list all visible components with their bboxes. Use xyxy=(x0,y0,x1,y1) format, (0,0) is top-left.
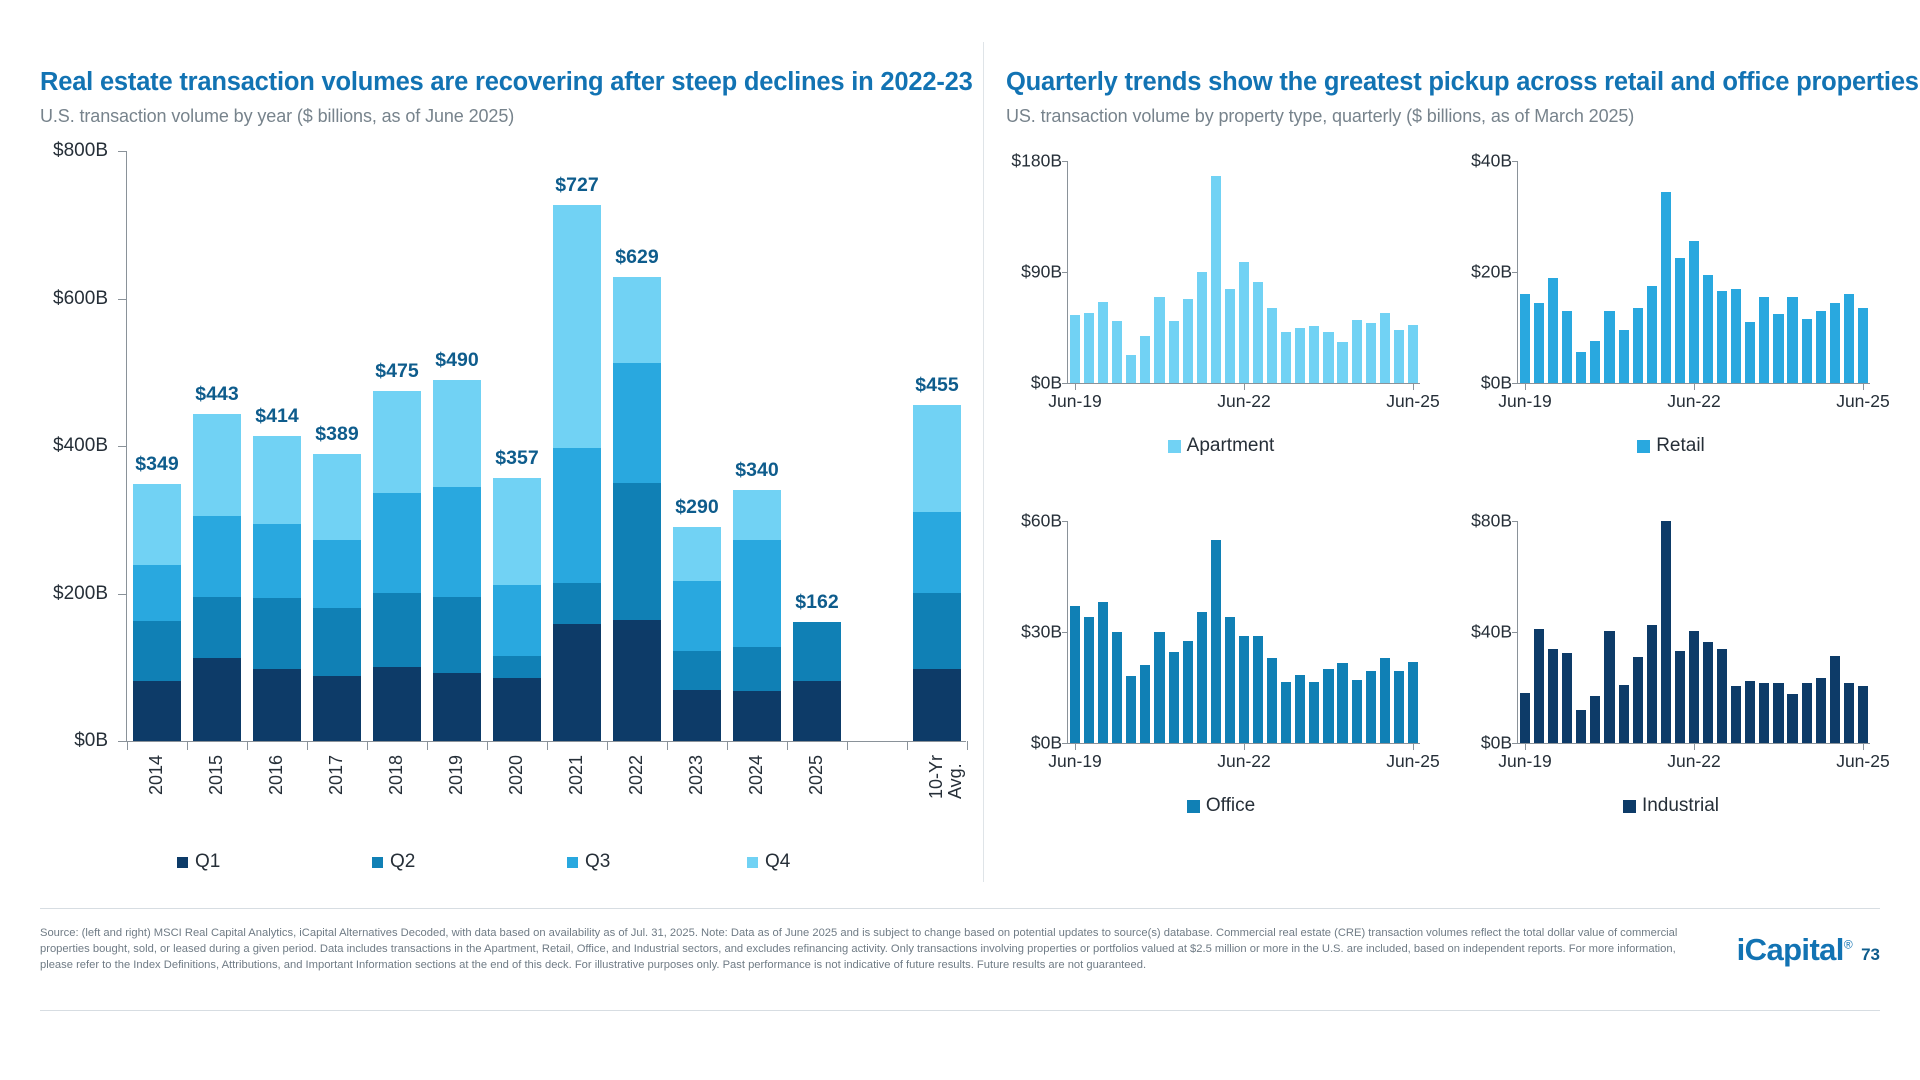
mini-bar[interactable] xyxy=(1661,192,1671,383)
mini-bar[interactable] xyxy=(1169,321,1179,383)
mini-bar[interactable] xyxy=(1619,685,1629,743)
mini-bar[interactable] xyxy=(1745,322,1755,383)
mini-bar[interactable] xyxy=(1098,302,1108,383)
mini-bar[interactable] xyxy=(1689,631,1699,743)
x-axis-category-label: 2024 xyxy=(747,755,766,795)
mini-x-tick-label: Jun-25 xyxy=(1386,391,1440,412)
mini-bar[interactable] xyxy=(1717,291,1727,383)
mini-x-tick-mark xyxy=(1525,384,1526,390)
x-tick-mark xyxy=(487,741,488,750)
bar-total-label: $475 xyxy=(375,360,418,383)
mini-x-tick-mark xyxy=(1863,384,1864,390)
mini-bar[interactable] xyxy=(1084,617,1094,743)
bar-segment-q1 xyxy=(133,681,181,741)
x-tick-mark xyxy=(727,741,728,750)
mini-x-tick-mark xyxy=(1413,744,1414,750)
x-axis-category-label: 2018 xyxy=(387,755,406,795)
mini-bar[interactable] xyxy=(1619,330,1629,383)
mini-y-axis-labels: $0B$30B$60B xyxy=(1006,521,1062,743)
mini-bar[interactable] xyxy=(1844,683,1854,743)
mini-bar[interactable] xyxy=(1534,629,1544,743)
bar-segment-q1 xyxy=(253,669,301,741)
mini-x-tick-label: Jun-22 xyxy=(1667,391,1721,412)
stacked-bar[interactable] xyxy=(673,527,721,741)
x-tick-mark xyxy=(907,741,908,750)
bar-segment-q2 xyxy=(913,593,961,669)
bar-segment-q1 xyxy=(433,673,481,741)
mini-bar[interactable] xyxy=(1253,282,1263,383)
mini-x-tick-label: Jun-22 xyxy=(1667,751,1721,772)
panel-divider xyxy=(983,42,984,882)
x-axis-ticks xyxy=(127,741,967,751)
mini-bar[interactable] xyxy=(1590,341,1600,383)
mini-bar[interactable] xyxy=(1858,686,1868,743)
x-tick-mark xyxy=(187,741,188,750)
bar-segment-q4 xyxy=(733,490,781,539)
mini-legend-label: Office xyxy=(1206,795,1255,817)
bar-segment-q4 xyxy=(373,391,421,494)
right-panel: Quarterly trends show the greatest picku… xyxy=(1006,68,1886,843)
page-number: 73 xyxy=(1861,945,1880,965)
mini-x-tick-label: Jun-19 xyxy=(1048,391,1102,412)
y-tick-mark xyxy=(118,151,126,152)
stacked-bar[interactable] xyxy=(793,622,841,741)
y-tick-mark xyxy=(118,741,126,742)
mini-bar[interactable] xyxy=(1520,693,1530,743)
footnote-text: Source: (left and right) MSCI Real Capit… xyxy=(40,926,1700,974)
bar-segment-q2 xyxy=(433,597,481,673)
legend-swatch-icon xyxy=(567,857,578,868)
mini-x-tick-mark xyxy=(1244,744,1245,750)
bar-total-label: $357 xyxy=(495,447,538,470)
mini-bar[interactable] xyxy=(1802,683,1812,743)
mini-bar[interactable] xyxy=(1197,612,1207,743)
mini-bar[interactable] xyxy=(1844,294,1854,383)
mini-bar[interactable] xyxy=(1661,521,1671,743)
mini-bar[interactable] xyxy=(1548,278,1558,383)
mini-legend-swatch-icon xyxy=(1637,440,1650,453)
x-tick-mark xyxy=(967,741,968,750)
x-tick-mark xyxy=(427,741,428,750)
bar-segment-q1 xyxy=(913,669,961,741)
mini-bar[interactable] xyxy=(1604,631,1614,743)
mini-legend-swatch-icon xyxy=(1623,800,1636,813)
bar-total-label: $414 xyxy=(255,405,298,428)
mini-bar[interactable] xyxy=(1520,294,1530,383)
mini-bar[interactable] xyxy=(1323,332,1333,383)
mini-y-tick-label: $180B xyxy=(1011,151,1062,172)
mini-bar[interactable] xyxy=(1154,297,1164,383)
mini-bar[interactable] xyxy=(1703,275,1713,383)
mini-bar[interactable] xyxy=(1183,641,1193,743)
bar-segment-q3 xyxy=(253,524,301,598)
mini-bar[interactable] xyxy=(1295,328,1305,384)
legend-label: Q4 xyxy=(765,851,790,873)
mini-x-tick-label: Jun-19 xyxy=(1498,751,1552,772)
bar-segment-q3 xyxy=(373,493,421,593)
mini-bar[interactable] xyxy=(1562,311,1572,383)
bar-segment-q3 xyxy=(673,581,721,651)
x-axis-category-label: 2022 xyxy=(627,755,646,795)
mini-bar[interactable] xyxy=(1309,682,1319,743)
mini-bar[interactable] xyxy=(1352,320,1362,383)
bar-total-label: $349 xyxy=(135,453,178,476)
bar-segment-q2 xyxy=(613,483,661,620)
mini-bar[interactable] xyxy=(1816,678,1826,743)
x-tick-mark xyxy=(367,741,368,750)
mini-bar[interactable] xyxy=(1830,303,1840,383)
legend-swatch-icon xyxy=(177,857,188,868)
bar-segment-q2 xyxy=(253,598,301,669)
mini-y-tick-label: $40B xyxy=(1471,151,1512,172)
mini-legend-swatch-icon xyxy=(1187,800,1200,813)
legend-item-q1[interactable]: Q1 xyxy=(177,851,220,873)
x-tick-mark xyxy=(307,741,308,750)
mini-bar[interactable] xyxy=(1647,286,1657,383)
bar-segment-q4 xyxy=(913,405,961,511)
legend-item-q2[interactable]: Q2 xyxy=(372,851,415,873)
mini-bar[interactable] xyxy=(1084,313,1094,383)
mini-bar[interactable] xyxy=(1394,330,1404,383)
stacked-bar[interactable] xyxy=(193,414,241,741)
mini-bar[interactable] xyxy=(1126,676,1136,743)
bar-segment-q4 xyxy=(313,454,361,540)
mini-bar[interactable] xyxy=(1576,352,1586,383)
mini-bar[interactable] xyxy=(1408,325,1418,383)
mini-bar[interactable] xyxy=(1112,321,1122,383)
bar-segment-q3 xyxy=(433,487,481,597)
y-tick-mark xyxy=(118,446,126,447)
footer-divider-bottom xyxy=(40,1010,1880,1011)
x-axis-category-label: 2015 xyxy=(207,755,226,795)
mini-bar[interactable] xyxy=(1309,326,1319,383)
x-axis-labels: 2014201520162017201820192020202120222023… xyxy=(127,755,967,845)
y-tick-label: $800B xyxy=(53,140,108,162)
mini-bar[interactable] xyxy=(1731,686,1741,743)
legend-item-q4[interactable]: Q4 xyxy=(747,851,790,873)
bar-segment-q4 xyxy=(493,478,541,585)
mini-bar[interactable] xyxy=(1225,617,1235,743)
x-axis-category-label: 2023 xyxy=(687,755,706,795)
bar-segment-q3 xyxy=(133,565,181,621)
registered-mark-icon: ® xyxy=(1844,938,1852,952)
mini-legend-label: Retail xyxy=(1656,435,1705,457)
bar-segment-q4 xyxy=(133,484,181,565)
mini-bar[interactable] xyxy=(1253,636,1263,743)
mini-x-tick-mark xyxy=(1694,384,1695,390)
mini-bar[interactable] xyxy=(1267,658,1277,743)
icapital-logo: iCapital® xyxy=(1737,932,1852,968)
x-tick-mark xyxy=(787,741,788,750)
mini-x-tick-mark xyxy=(1244,384,1245,390)
bar-segment-q4 xyxy=(253,436,301,525)
mini-bar[interactable] xyxy=(1225,289,1235,383)
mini-bar[interactable] xyxy=(1562,653,1572,743)
mini-bar[interactable] xyxy=(1633,308,1643,383)
mini-bar[interactable] xyxy=(1140,665,1150,743)
bar-total-label: $490 xyxy=(435,349,478,372)
x-axis-category-label: 2017 xyxy=(327,755,346,795)
mini-bar[interactable] xyxy=(1647,625,1657,743)
x-tick-mark xyxy=(547,741,548,750)
mini-bar[interactable] xyxy=(1773,683,1783,743)
right-panel-title: Quarterly trends show the greatest picku… xyxy=(1006,68,1886,97)
bar-total-label: $443 xyxy=(195,383,238,406)
bar-segment-q2 xyxy=(673,651,721,690)
y-tick-label: $0B xyxy=(74,730,108,752)
bar-segment-q2 xyxy=(373,593,421,667)
bar-segment-q1 xyxy=(793,681,841,741)
mini-bar[interactable] xyxy=(1773,314,1783,383)
mini-y-tick-label: $20B xyxy=(1471,262,1512,283)
mini-bar[interactable] xyxy=(1070,315,1080,383)
y-axis-labels: $0B$200B$400B$600B$800B xyxy=(40,151,118,741)
bar-total-label: $389 xyxy=(315,423,358,446)
bar-segment-q1 xyxy=(733,691,781,741)
mini-bar[interactable] xyxy=(1787,297,1797,383)
mini-bar[interactable] xyxy=(1394,671,1404,743)
mini-bar[interactable] xyxy=(1717,649,1727,743)
mini-bar[interactable] xyxy=(1703,642,1713,743)
mini-y-tick-label: $90B xyxy=(1021,262,1062,283)
bar-segment-q3 xyxy=(313,540,361,609)
x-axis-category-label: 2019 xyxy=(447,755,466,795)
mini-bar[interactable] xyxy=(1337,663,1347,743)
mini-x-tick-mark xyxy=(1075,384,1076,390)
mini-bar[interactable] xyxy=(1830,656,1840,743)
mini-bar[interactable] xyxy=(1816,311,1826,383)
mini-bar[interactable] xyxy=(1576,710,1586,743)
stacked-bar[interactable] xyxy=(133,484,181,741)
left-panel-subtitle: U.S. transaction volume by year ($ billi… xyxy=(40,106,970,127)
mini-legend-swatch-icon xyxy=(1168,440,1181,453)
mini-x-tick-label: Jun-25 xyxy=(1836,391,1890,412)
y-tick-mark xyxy=(118,594,126,595)
plot-area: $349$443$414$389$475$490$357$727$629$290… xyxy=(127,151,967,741)
mini-y-tick-label: $60B xyxy=(1021,511,1062,532)
stacked-bar[interactable] xyxy=(613,277,661,741)
mini-x-tick-mark xyxy=(1694,744,1695,750)
mini-bar[interactable] xyxy=(1366,671,1376,743)
mini-bar[interactable] xyxy=(1267,308,1277,383)
x-tick-mark xyxy=(247,741,248,750)
x-tick-mark xyxy=(607,741,608,750)
annual-stacked-chart: $0B$200B$400B$600B$800B $349$443$414$389… xyxy=(40,151,970,791)
mini-chart-industrial: $0B$40B$80BJun-19Jun-22Jun-25Industrial xyxy=(1456,513,1886,843)
legend-label: Q2 xyxy=(390,851,415,873)
mini-bar[interactable] xyxy=(1380,658,1390,743)
mini-legend-label: Apartment xyxy=(1187,435,1275,457)
bar-segment-q2 xyxy=(313,608,361,676)
mini-bar[interactable] xyxy=(1675,651,1685,743)
bar-segment-q3 xyxy=(913,512,961,593)
quarter-legend: Q1Q2Q3Q4 xyxy=(127,851,827,881)
mini-bar[interactable] xyxy=(1534,303,1544,383)
mini-bar[interactable] xyxy=(1295,675,1305,743)
mini-plot-area xyxy=(1068,521,1420,743)
y-tick-mark xyxy=(118,299,126,300)
mini-bar[interactable] xyxy=(1183,299,1193,383)
stacked-bar[interactable] xyxy=(433,380,481,741)
bar-segment-q3 xyxy=(193,516,241,597)
mini-bar[interactable] xyxy=(1675,258,1685,383)
mini-legend-office[interactable]: Office xyxy=(1006,795,1436,817)
mini-legend-apartment[interactable]: Apartment xyxy=(1006,435,1436,457)
bar-segment-q2 xyxy=(493,656,541,677)
bar-segment-q1 xyxy=(673,690,721,741)
bar-segment-q1 xyxy=(313,676,361,741)
stacked-bar[interactable] xyxy=(553,205,601,741)
mini-plot-area xyxy=(1068,161,1420,383)
legend-item-q3[interactable]: Q3 xyxy=(567,851,610,873)
mini-bar[interactable] xyxy=(1352,680,1362,743)
x-axis-category-label: 2014 xyxy=(147,755,166,795)
mini-x-tick-mark xyxy=(1413,384,1414,390)
bar-total-label: $455 xyxy=(915,374,958,397)
brand-block: iCapital® 73 xyxy=(1737,932,1880,968)
mini-x-tick-label: Jun-19 xyxy=(1498,391,1552,412)
property-type-mini-charts: $0B$90B$180BJun-19Jun-22Jun-25Apartment$… xyxy=(1006,153,1886,843)
mini-bar[interactable] xyxy=(1604,311,1614,383)
mini-bar[interactable] xyxy=(1731,289,1741,383)
mini-bar[interactable] xyxy=(1759,297,1769,383)
x-axis-category-label: 2016 xyxy=(267,755,286,795)
mini-bar[interactable] xyxy=(1239,636,1249,743)
stacked-bar[interactable] xyxy=(733,490,781,741)
x-tick-mark xyxy=(847,741,848,750)
bar-segment-q1 xyxy=(553,624,601,741)
mini-y-tick-label: $40B xyxy=(1471,622,1512,643)
stacked-bar[interactable] xyxy=(373,391,421,741)
mini-bar[interactable] xyxy=(1759,683,1769,743)
mini-y-tick-label: $80B xyxy=(1471,511,1512,532)
bar-segment-q3 xyxy=(613,363,661,482)
bar-total-label: $727 xyxy=(555,174,598,197)
x-tick-mark xyxy=(667,741,668,750)
mini-bar[interactable] xyxy=(1126,355,1136,383)
mini-bar[interactable] xyxy=(1337,342,1347,383)
mini-bar[interactable] xyxy=(1366,323,1376,383)
mini-bar[interactable] xyxy=(1197,272,1207,383)
bar-total-label: $629 xyxy=(615,246,658,269)
bar-total-label: $162 xyxy=(795,591,838,614)
mini-bar[interactable] xyxy=(1211,176,1221,383)
stacked-bar[interactable] xyxy=(913,405,961,741)
bar-segment-q3 xyxy=(553,448,601,583)
mini-bar[interactable] xyxy=(1408,662,1418,743)
mini-x-tick-mark xyxy=(1075,744,1076,750)
stacked-bar[interactable] xyxy=(313,454,361,741)
bar-segment-q1 xyxy=(373,667,421,741)
mini-y-tick-label: $30B xyxy=(1021,622,1062,643)
x-axis-category-label: 2020 xyxy=(507,755,526,795)
mini-y-axis-labels: $0B$20B$40B xyxy=(1456,161,1512,383)
bar-segment-q1 xyxy=(493,678,541,741)
mini-chart-office: $0B$30B$60BJun-19Jun-22Jun-25Office xyxy=(1006,513,1436,843)
bar-segment-q2 xyxy=(133,621,181,681)
y-tick-label: $200B xyxy=(53,583,108,605)
mini-bar[interactable] xyxy=(1858,308,1868,383)
x-axis-category-label: 10-Yr Avg. xyxy=(927,755,965,799)
bar-segment-q2 xyxy=(793,622,841,681)
right-panel-subtitle: US. transaction volume by property type,… xyxy=(1006,106,1886,127)
bar-segment-q2 xyxy=(553,583,601,624)
mini-y-axis-labels: $0B$90B$180B xyxy=(1006,161,1062,383)
stacked-bar[interactable] xyxy=(493,478,541,741)
bar-segment-q4 xyxy=(613,277,661,363)
bar-segment-q1 xyxy=(193,658,241,741)
mini-bar[interactable] xyxy=(1380,313,1390,383)
mini-bar[interactable] xyxy=(1281,332,1291,383)
mini-bar[interactable] xyxy=(1281,682,1291,743)
legend-label: Q1 xyxy=(195,851,220,873)
mini-bar[interactable] xyxy=(1070,606,1080,743)
mini-bar[interactable] xyxy=(1239,262,1249,383)
mini-bar[interactable] xyxy=(1689,241,1699,383)
left-panel-title: Real estate transaction volumes are reco… xyxy=(40,68,970,97)
mini-x-tick-label: Jun-25 xyxy=(1386,751,1440,772)
slide-root: Real estate transaction volumes are reco… xyxy=(0,0,1920,1080)
mini-x-tick-label: Jun-22 xyxy=(1217,751,1271,772)
stacked-bar[interactable] xyxy=(253,436,301,741)
bar-segment-q1 xyxy=(613,620,661,741)
mini-bar[interactable] xyxy=(1112,632,1122,743)
legend-swatch-icon xyxy=(372,857,383,868)
y-tick-label: $600B xyxy=(53,288,108,310)
bar-segment-q3 xyxy=(493,585,541,657)
mini-legend-retail[interactable]: Retail xyxy=(1456,435,1886,457)
mini-bar[interactable] xyxy=(1169,652,1179,743)
bar-segment-q4 xyxy=(193,414,241,516)
mini-legend-label: Industrial xyxy=(1642,795,1719,817)
left-panel: Real estate transaction volumes are reco… xyxy=(40,68,970,791)
mini-chart-retail: $0B$20B$40BJun-19Jun-22Jun-25Retail xyxy=(1456,153,1886,483)
bar-segment-q4 xyxy=(673,527,721,581)
mini-bar[interactable] xyxy=(1211,540,1221,744)
mini-bar[interactable] xyxy=(1802,319,1812,383)
mini-bar[interactable] xyxy=(1787,694,1797,743)
mini-x-tick-mark xyxy=(1863,744,1864,750)
mini-bar[interactable] xyxy=(1745,681,1755,743)
bar-segment-q2 xyxy=(733,647,781,691)
x-tick-mark xyxy=(127,741,128,750)
bar-segment-q4 xyxy=(433,380,481,488)
mini-bar[interactable] xyxy=(1633,657,1643,743)
mini-x-tick-label: Jun-25 xyxy=(1836,751,1890,772)
mini-bar[interactable] xyxy=(1323,669,1333,743)
legend-swatch-icon xyxy=(747,857,758,868)
bar-segment-q4 xyxy=(553,205,601,448)
x-axis-category-label: 2021 xyxy=(567,755,586,795)
brand-name: iCapital xyxy=(1737,932,1844,967)
mini-legend-industrial[interactable]: Industrial xyxy=(1456,795,1886,817)
bar-segment-q2 xyxy=(193,597,241,658)
bar-segment-q3 xyxy=(733,540,781,648)
mini-bar[interactable] xyxy=(1590,696,1600,743)
legend-label: Q3 xyxy=(585,851,610,873)
footer-divider-top xyxy=(40,908,1880,909)
mini-bar[interactable] xyxy=(1154,632,1164,743)
mini-x-tick-label: Jun-22 xyxy=(1217,391,1271,412)
mini-bar[interactable] xyxy=(1548,649,1558,743)
bar-total-label: $340 xyxy=(735,459,778,482)
bar-total-label: $290 xyxy=(675,496,718,519)
mini-bar[interactable] xyxy=(1140,336,1150,383)
mini-chart-apartment: $0B$90B$180BJun-19Jun-22Jun-25Apartment xyxy=(1006,153,1436,483)
mini-bar[interactable] xyxy=(1098,602,1108,743)
mini-x-tick-label: Jun-19 xyxy=(1048,751,1102,772)
mini-x-tick-mark xyxy=(1525,744,1526,750)
